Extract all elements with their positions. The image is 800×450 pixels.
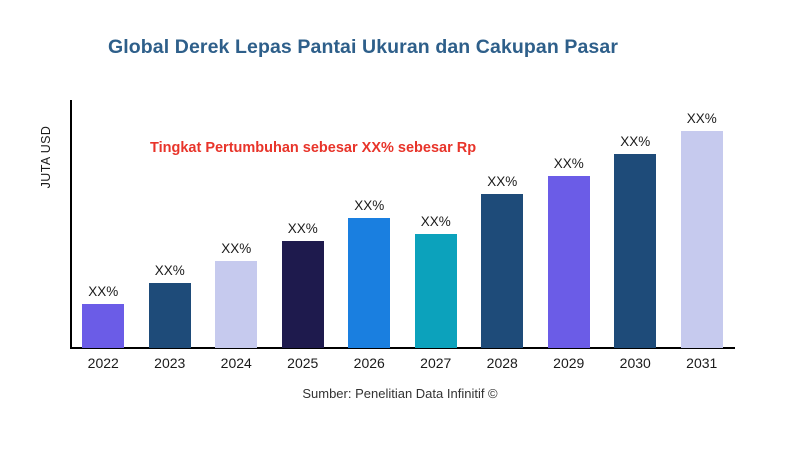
bar[interactable] [614, 154, 656, 348]
x-tick-label-2025: 2025 [268, 355, 338, 371]
bar-chart: Global Derek Lepas Pantai Ukuran dan Cak… [0, 0, 800, 450]
bar-group: XX% [149, 283, 191, 348]
x-tick-label-2027: 2027 [401, 355, 471, 371]
bar-group: XX% [415, 234, 457, 348]
growth-rate-annotation: Tingkat Pertumbuhan sebesar XX% sebesar … [150, 140, 476, 156]
bar[interactable] [282, 241, 324, 348]
bar[interactable] [481, 194, 523, 348]
bar[interactable] [415, 234, 457, 348]
bar-value-label: XX% [669, 111, 735, 126]
bar[interactable] [82, 304, 124, 348]
bar-value-label: XX% [602, 134, 668, 149]
x-tick-label-2023: 2023 [135, 355, 205, 371]
bar[interactable] [149, 283, 191, 348]
bar-value-label: XX% [203, 241, 269, 256]
y-axis-label: JUTA USD [39, 97, 53, 217]
plot-area: XX%XX%XX%XX%XX%XX%XX%XX%XX%XX% [70, 100, 780, 348]
bar-value-label: XX% [469, 174, 535, 189]
x-tick-label-2031: 2031 [667, 355, 737, 371]
bar[interactable] [215, 261, 257, 348]
bar-value-label: XX% [70, 284, 136, 299]
bar-value-label: XX% [270, 221, 336, 236]
x-tick-label-2026: 2026 [334, 355, 404, 371]
x-tick-label-2028: 2028 [467, 355, 537, 371]
bar[interactable] [548, 176, 590, 348]
chart-title: Global Derek Lepas Pantai Ukuran dan Cak… [108, 36, 618, 59]
x-tick-label-2024: 2024 [201, 355, 271, 371]
bar-value-label: XX% [336, 198, 402, 213]
bar-group: XX% [215, 261, 257, 348]
bar-group: XX% [348, 218, 390, 348]
bar-value-label: XX% [403, 214, 469, 229]
bar-group: XX% [681, 131, 723, 348]
bar-group: XX% [614, 154, 656, 348]
bar[interactable] [348, 218, 390, 348]
bar-value-label: XX% [536, 156, 602, 171]
bar-group: XX% [481, 194, 523, 348]
x-tick-label-2022: 2022 [68, 355, 138, 371]
bar[interactable] [681, 131, 723, 348]
x-tick-label-2029: 2029 [534, 355, 604, 371]
bar-group: XX% [282, 241, 324, 348]
bar-group: XX% [82, 304, 124, 348]
bar-group: XX% [548, 176, 590, 348]
x-tick-label-2030: 2030 [600, 355, 670, 371]
bar-value-label: XX% [137, 263, 203, 278]
source-caption: Sumber: Penelitian Data Infinitif © [0, 386, 800, 401]
